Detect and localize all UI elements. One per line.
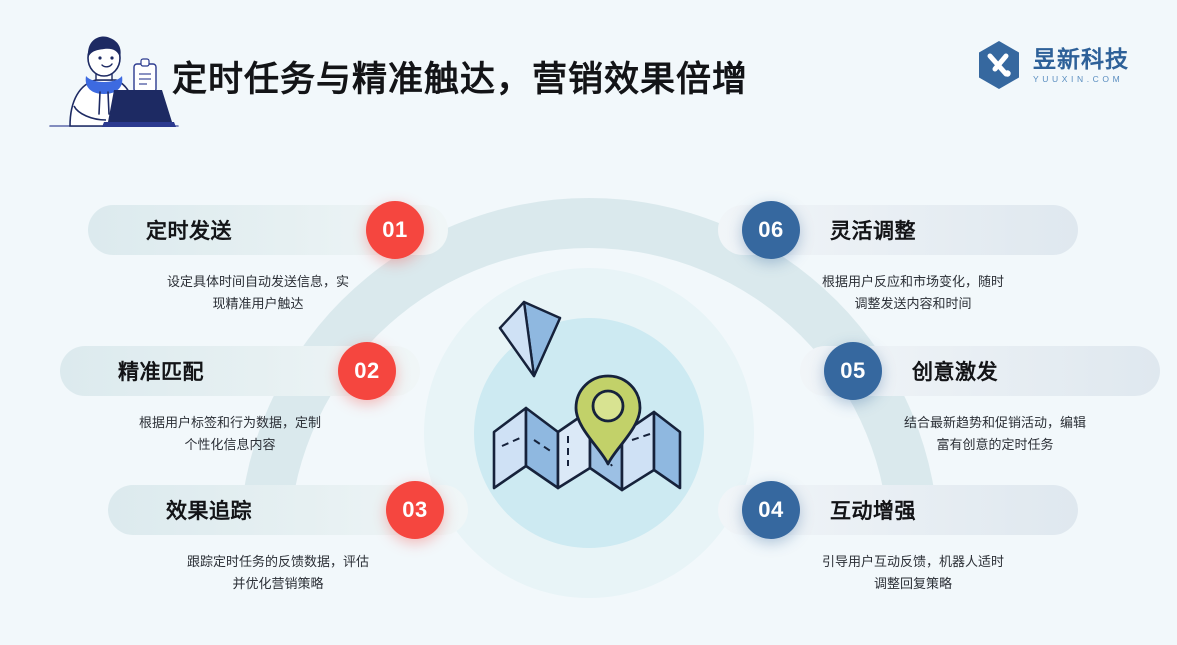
feature-item-04[interactable]: 04 互动增强 引导用户互动反馈，机器人适时调整回复策略	[718, 485, 1078, 595]
feature-pill-01[interactable]: 定时发送 01	[88, 205, 448, 255]
feature-desc-02: 根据用户标签和行为数据，定制个性化信息内容	[60, 412, 420, 456]
feature-pill-04[interactable]: 04 互动增强	[718, 485, 1078, 535]
feature-badge-05: 05	[824, 342, 882, 400]
feature-badge-06: 06	[742, 201, 800, 259]
feature-item-03[interactable]: 效果追踪 03 跟踪定时任务的反馈数据，评估并优化营销策略	[108, 485, 468, 595]
paper-plane-icon	[500, 302, 560, 376]
feature-pill-02[interactable]: 精准匹配 02	[60, 346, 420, 396]
feature-desc-04: 引导用户互动反馈，机器人适时调整回复策略	[718, 551, 1078, 595]
feature-desc-03: 跟踪定时任务的反馈数据，评估并优化营销策略	[108, 551, 468, 595]
feature-desc-06: 根据用户反应和市场变化，随时调整发送内容和时间	[718, 271, 1078, 315]
feature-badge-02: 02	[338, 342, 396, 400]
feature-item-01[interactable]: 定时发送 01 设定具体时间自动发送信息，实现精准用户触达	[88, 205, 448, 315]
folded-map-with-location-pin-and-paper-plane	[474, 280, 704, 510]
feature-badge-03: 03	[386, 481, 444, 539]
feature-title-01: 定时发送	[146, 215, 232, 245]
feature-title-06: 灵活调整	[830, 215, 916, 245]
feature-title-02: 精准匹配	[118, 356, 204, 386]
feature-item-06[interactable]: 06 灵活调整 根据用户反应和市场变化，随时调整发送内容和时间	[718, 205, 1078, 315]
feature-pill-06[interactable]: 06 灵活调整	[718, 205, 1078, 255]
feature-title-05: 创意激发	[912, 356, 998, 386]
feature-pill-05[interactable]: 05 创意激发	[800, 346, 1160, 396]
feature-item-02[interactable]: 精准匹配 02 根据用户标签和行为数据，定制个性化信息内容	[60, 346, 420, 456]
feature-title-03: 效果追踪	[166, 495, 252, 525]
feature-desc-05: 结合最新趋势和促销活动，编辑富有创意的定时任务	[800, 412, 1160, 456]
feature-title-04: 互动增强	[830, 495, 916, 525]
feature-pill-03[interactable]: 效果追踪 03	[108, 485, 468, 535]
feature-badge-01: 01	[366, 201, 424, 259]
feature-item-05[interactable]: 05 创意激发 结合最新趋势和促销活动，编辑富有创意的定时任务	[800, 346, 1160, 456]
feature-desc-01: 设定具体时间自动发送信息，实现精准用户触达	[88, 271, 448, 315]
feature-badge-04: 04	[742, 481, 800, 539]
